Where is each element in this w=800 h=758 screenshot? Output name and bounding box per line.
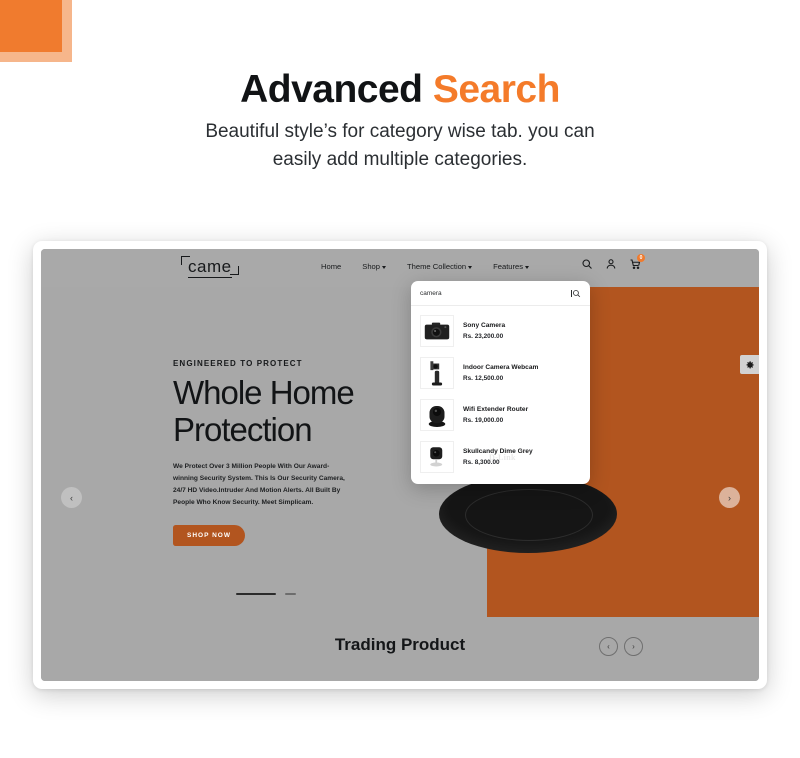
search-result-price: Rs. 23,200.00	[463, 333, 505, 340]
search-input-row[interactable]: camera	[411, 281, 590, 306]
page-subtitle-line-2: easily add multiple categories.	[160, 146, 640, 174]
nav-item-shop[interactable]: Shop	[362, 262, 386, 271]
gimbal-camera-thumb	[420, 357, 454, 389]
page-title: Advanced Search	[0, 68, 800, 113]
tab-featured-products[interactable]: Featured Products	[237, 681, 299, 682]
search-result-name: Indoor Camera Webcam	[463, 364, 538, 371]
product-brand-label: D-Link	[489, 453, 516, 462]
page-subtitle-line-1: Beautiful style’s for category wise tab.…	[160, 118, 640, 146]
chevron-down-icon	[382, 266, 386, 269]
cart-icon[interactable]: 0	[629, 258, 641, 270]
hero-title: Whole Home Protection	[173, 375, 383, 449]
search-result-price: Rs. 12,500.00	[463, 375, 538, 382]
hero-section: D-Link ENGINEERED TO PROTECT Whole Home …	[41, 287, 759, 617]
nav-item-home[interactable]: Home	[321, 262, 341, 271]
search-result-text: Wifi Extender RouterRs. 19,000.00	[463, 406, 528, 424]
tab-new-products[interactable]: New Products	[373, 681, 420, 682]
cart-count-badge: 0	[637, 254, 645, 262]
gear-icon[interactable]	[740, 355, 759, 374]
search-icon[interactable]	[581, 258, 593, 270]
site-header: came Home Shop Theme Collection Features	[41, 249, 759, 287]
trading-product-title: Trading Product	[41, 635, 759, 655]
hero-eyebrow: ENGINEERED TO PROTECT	[173, 359, 383, 368]
page-title-accent: Search	[433, 68, 560, 111]
site-logo-text: came	[188, 257, 232, 278]
website-preview-frame: came Home Shop Theme Collection Features	[33, 241, 767, 689]
trading-arrow-group: ‹ ›	[599, 637, 643, 656]
hero-prev-arrow[interactable]: ‹	[61, 487, 82, 508]
search-input[interactable]: camera	[420, 290, 572, 297]
search-result-item[interactable]: Indoor Camera WebcamRs. 12,500.00	[411, 352, 590, 394]
nav-item-features[interactable]: Features	[493, 262, 529, 271]
hero-paragraph: We Protect Over 3 Million People With Ou…	[173, 461, 353, 510]
shop-now-button[interactable]: SHOP NOW	[173, 525, 245, 546]
trading-next-arrow[interactable]: ›	[624, 637, 643, 656]
chevron-down-icon	[468, 266, 472, 269]
hero-pagination-dot-1[interactable]	[236, 593, 276, 595]
search-result-item[interactable]: Sony CameraRs. 23,200.00	[411, 310, 590, 352]
product-base-shape	[439, 475, 617, 553]
header-icon-group: 0	[581, 258, 641, 270]
security-cam-thumb	[420, 441, 454, 473]
router-thumb	[420, 399, 454, 431]
site-logo[interactable]: came	[181, 256, 239, 277]
website-preview-screen: came Home Shop Theme Collection Features	[41, 249, 759, 681]
corner-accent-square	[0, 0, 62, 52]
user-icon[interactable]	[605, 258, 617, 270]
search-result-name: Wifi Extender Router	[463, 406, 528, 413]
nav-item-theme-collection[interactable]: Theme Collection	[407, 262, 472, 271]
trading-prev-arrow[interactable]: ‹	[599, 637, 618, 656]
hero-title-line-2: Protection	[173, 412, 383, 449]
trading-product-section: Trading Product ‹ ›	[41, 617, 759, 681]
hero-next-arrow[interactable]: ›	[719, 487, 740, 508]
trading-product-tabs: Featured Products New Products Best Sell…	[41, 673, 759, 681]
nav-item-home-label: Home	[321, 262, 341, 271]
hero-title-line-1: Whole Home	[173, 375, 383, 412]
nav-item-shop-label: Shop	[362, 262, 380, 271]
page-title-main: Advanced	[240, 68, 433, 111]
search-result-name: Sony Camera	[463, 322, 505, 329]
search-result-text: Indoor Camera WebcamRs. 12,500.00	[463, 364, 538, 382]
tab-best-seller-products[interactable]: Best Seller Products	[494, 681, 562, 682]
search-result-text: Sony CameraRs. 23,200.00	[463, 322, 505, 340]
hero-pagination-dot-2[interactable]	[285, 593, 296, 595]
hero-copy: ENGINEERED TO PROTECT Whole Home Protect…	[173, 359, 383, 546]
hero-pagination	[41, 593, 491, 595]
dslr-camera-thumb	[420, 315, 454, 347]
chevron-down-icon	[525, 266, 529, 269]
site-navigation: Home Shop Theme Collection Features	[321, 262, 529, 271]
page-subtitle: Beautiful style’s for category wise tab.…	[160, 118, 640, 173]
search-result-item[interactable]: Wifi Extender RouterRs. 19,000.00	[411, 394, 590, 436]
search-result-price: Rs. 19,000.00	[463, 417, 528, 424]
search-submit-icon[interactable]	[572, 289, 581, 298]
nav-item-theme-collection-label: Theme Collection	[407, 262, 466, 271]
nav-item-features-label: Features	[493, 262, 523, 271]
